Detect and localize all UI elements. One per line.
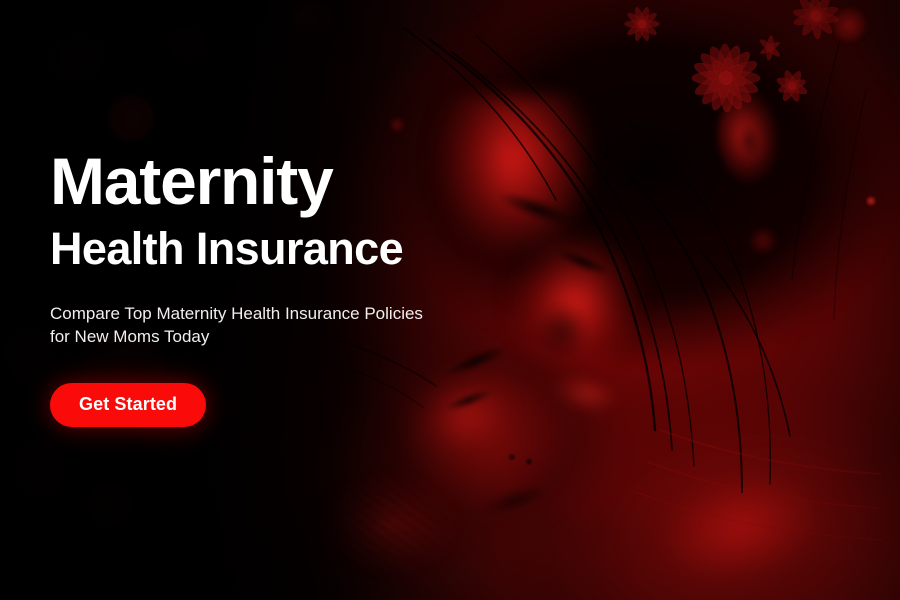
hero-content: Maternity Health Insurance Compare Top M… xyxy=(50,148,480,427)
bokeh-light xyxy=(140,8,230,78)
bokeh-light xyxy=(750,228,776,254)
hero-description: Compare Top Maternity Health Insurance P… xyxy=(50,303,440,348)
page-subtitle-heading: Health Insurance xyxy=(50,226,480,271)
cta-row: Get Started xyxy=(50,383,480,427)
bokeh-light xyxy=(108,95,154,141)
hero-banner: Maternity Health Insurance Compare Top M… xyxy=(0,0,900,600)
bokeh-light xyxy=(390,118,404,132)
bokeh-light xyxy=(866,196,876,206)
get-started-button[interactable]: Get Started xyxy=(50,383,206,427)
bokeh-light xyxy=(20,10,130,105)
bokeh-light xyxy=(82,478,136,530)
page-title: Maternity xyxy=(50,148,480,214)
bokeh-light xyxy=(832,8,866,42)
